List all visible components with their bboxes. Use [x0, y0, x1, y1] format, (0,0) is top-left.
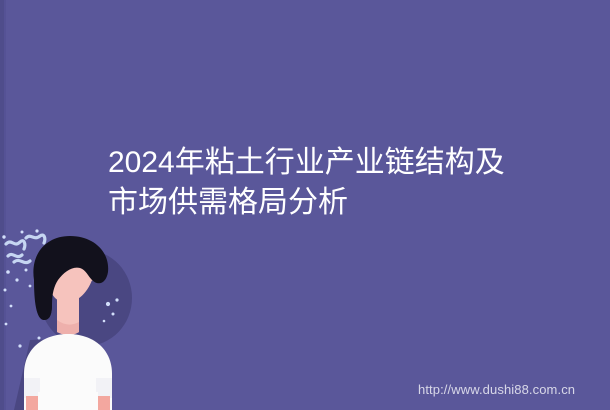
page-title: 2024年粘土行业产业链结构及 市场供需格局分析 — [108, 143, 548, 223]
title-line-2: 市场供需格局分析 — [108, 183, 548, 223]
watermark-url: http://www.dushi88.com.cn — [418, 381, 575, 399]
title-line-1: 2024年粘土行业产业链结构及 — [108, 143, 548, 183]
article-cover-image: 2024年粘土行业产业链结构及 市场供需格局分析 http://www.dush… — [0, 0, 610, 410]
tshirt-hem — [38, 392, 98, 410]
person-looking-up-illustration — [0, 228, 180, 410]
